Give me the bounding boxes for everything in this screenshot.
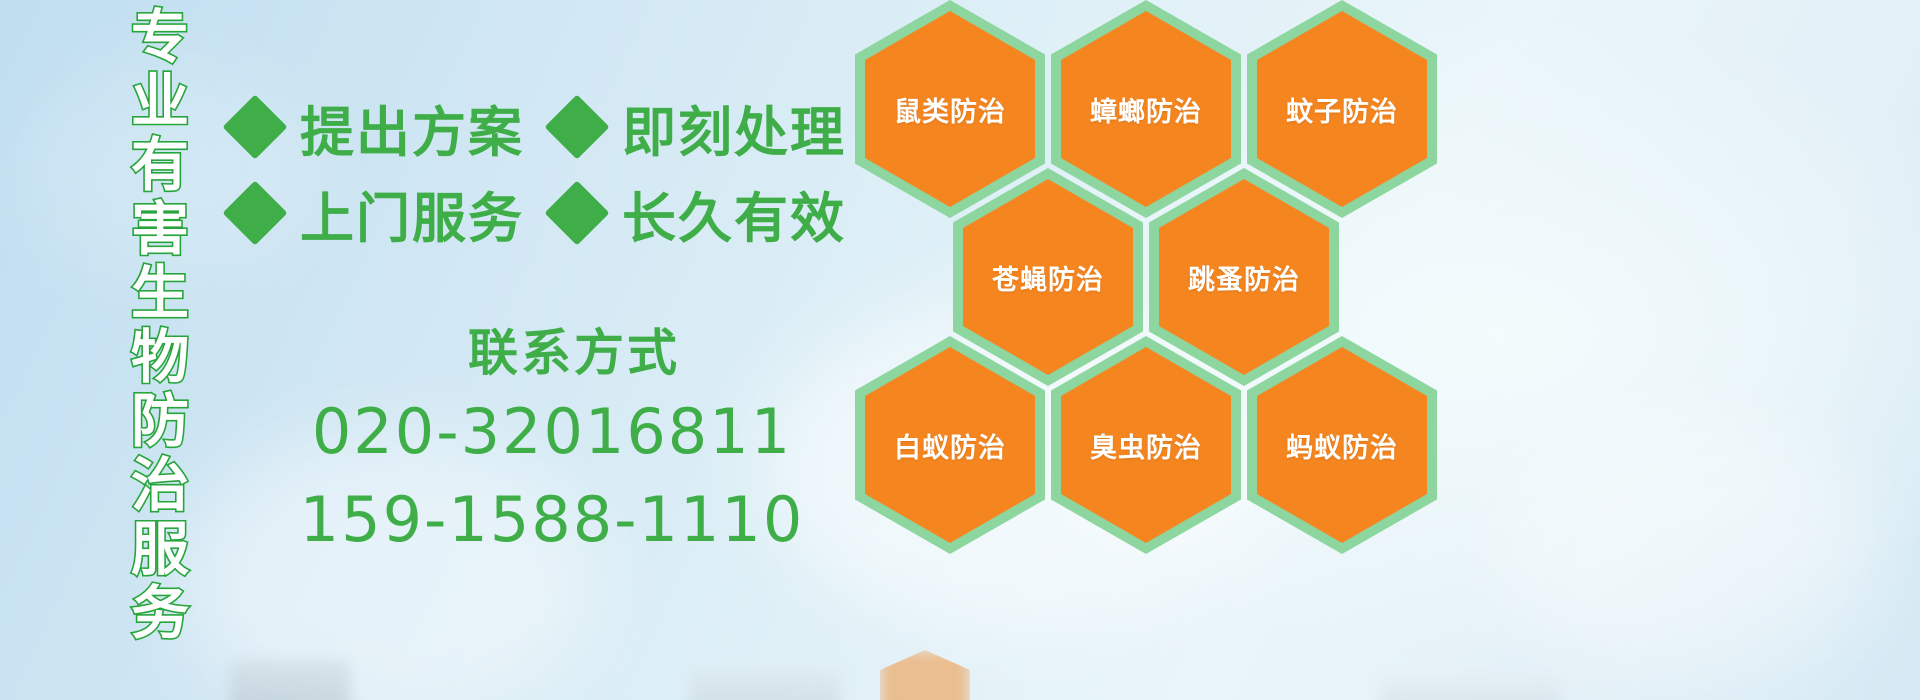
feature-row: 提出方案 即刻处理: [232, 84, 872, 170]
feature-label: 上门服务: [300, 174, 524, 253]
vertical-title-char: 治: [131, 454, 189, 518]
vertical-title-char: 防: [131, 390, 189, 454]
diamond-icon: [222, 180, 287, 245]
foreground-blur-shape-3: [1380, 675, 1560, 700]
vertical-title-char: 物: [131, 326, 189, 390]
hexagon-inner: 白蚁防治: [865, 347, 1035, 543]
feature-item: 即刻处理: [554, 88, 846, 167]
service-hexagon-ant[interactable]: 蚂蚁防治: [1247, 336, 1437, 554]
feature-item: 长久有效: [554, 174, 846, 253]
pest-control-banner: 专 业 有 害 生 物 防 治 服 务 提出方案 即刻处理 上门服务: [0, 0, 1920, 700]
diamond-icon: [544, 180, 609, 245]
foreground-blur-hexagon: [880, 650, 970, 700]
service-hexagon-fly[interactable]: 苍蝇防治: [953, 168, 1143, 386]
foreground-blur-shape-1: [230, 660, 350, 700]
hexagon-inner: 跳蚤防治: [1159, 179, 1329, 375]
hexagon-inner: 蟑螂防治: [1061, 11, 1231, 207]
diamond-icon: [544, 94, 609, 159]
service-label: 臭虫防治: [1090, 426, 1202, 465]
service-hexagon-rodent[interactable]: 鼠类防治: [855, 0, 1045, 218]
service-label: 白蚁防治: [894, 426, 1006, 465]
hexagon-inner: 蚊子防治: [1257, 11, 1427, 207]
contact-block: 联系方式 020-32016811 159-1588-1110: [232, 318, 872, 564]
contact-title: 联系方式: [276, 318, 872, 388]
service-hexagon-cockroach[interactable]: 蟑螂防治: [1051, 0, 1241, 218]
diamond-icon: [222, 94, 287, 159]
service-label: 蚂蚁防治: [1286, 426, 1398, 465]
feature-label: 提出方案: [300, 88, 524, 167]
service-label: 蚊子防治: [1286, 90, 1398, 129]
hexagon-inner: 鼠类防治: [865, 11, 1035, 207]
foreground-blur-shape-2: [690, 670, 840, 700]
hexagon-inner: 蚂蚁防治: [1257, 347, 1427, 543]
feature-item: 上门服务: [232, 174, 524, 253]
service-label: 跳蚤防治: [1188, 258, 1300, 297]
vertical-title-char: 害: [131, 198, 189, 262]
hexagon-inner: 苍蝇防治: [963, 179, 1133, 375]
background-glow-3: [1500, 420, 1880, 680]
feature-label: 即刻处理: [622, 88, 846, 167]
vertical-title-char: 专: [131, 6, 189, 70]
vertical-title-char: 生: [131, 262, 189, 326]
service-honeycomb: 鼠类防治 蟑螂防治 蚊子防治 苍蝇防治 跳蚤防治 白蚁防治: [855, 0, 1455, 546]
hexagon-inner: 臭虫防治: [1061, 347, 1231, 543]
vertical-title: 专 业 有 害 生 物 防 治 服 务: [104, 6, 216, 696]
vertical-title-char: 有: [131, 134, 189, 198]
phone-number-mobile[interactable]: 159-1588-1110: [232, 476, 872, 564]
service-hexagon-bedbug[interactable]: 臭虫防治: [1051, 336, 1241, 554]
feature-label: 长久有效: [622, 174, 846, 253]
service-label: 蟑螂防治: [1090, 90, 1202, 129]
service-hexagon-flea[interactable]: 跳蚤防治: [1149, 168, 1339, 386]
vertical-title-char: 服: [131, 518, 189, 582]
feature-list: 提出方案 即刻处理 上门服务 长久有效: [232, 84, 872, 256]
vertical-title-char: 业: [131, 70, 189, 134]
vertical-title-char: 务: [131, 582, 189, 646]
service-hexagon-termite[interactable]: 白蚁防治: [855, 336, 1045, 554]
phone-number-landline[interactable]: 020-32016811: [232, 388, 872, 476]
service-label: 鼠类防治: [894, 90, 1006, 129]
feature-item: 提出方案: [232, 88, 524, 167]
service-hexagon-mosquito[interactable]: 蚊子防治: [1247, 0, 1437, 218]
service-label: 苍蝇防治: [992, 258, 1104, 297]
feature-row: 上门服务 长久有效: [232, 170, 872, 256]
